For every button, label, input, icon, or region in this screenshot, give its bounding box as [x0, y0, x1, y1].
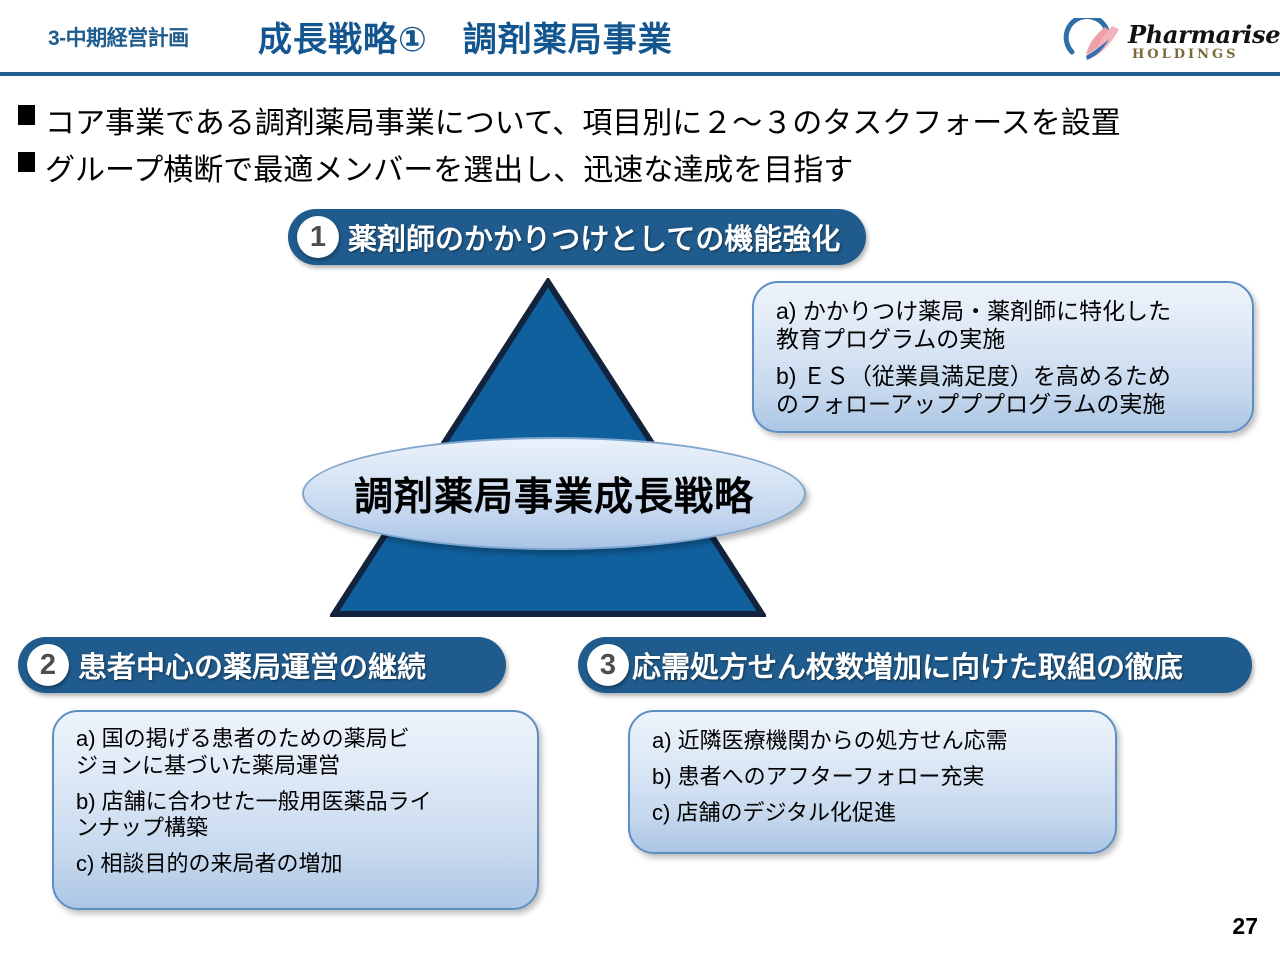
callout-line: b) ＥＳ（従業員満足度）を高めるため	[776, 362, 1236, 390]
square-bullet-icon	[18, 152, 35, 172]
bullet-item-2: グループ横断で最適メンバーを選出し、迅速な達成を目指す	[18, 145, 853, 189]
strategy-number-badge-2: 2	[27, 644, 69, 686]
callout-spacer	[76, 780, 521, 789]
square-bullet-icon	[18, 105, 35, 125]
strategy-banner-label-3: 応需処方せん枚数増加に向けた取組の徹底	[632, 644, 1183, 686]
strategy-banner-label-2: 患者中心の薬局運営の継続	[78, 644, 426, 686]
callout-spacer	[76, 842, 521, 851]
page-title: 成長戦略① 調剤薬局事業	[258, 12, 673, 61]
callout-line: b) 患者へのアフターフォロー充実	[652, 764, 1099, 791]
bullet-text: コア事業である調剤薬局事業について、項目別に２～３のタスクフォースを設置	[45, 98, 1121, 142]
callout-line: c) 店舗のデジタル化促進	[652, 800, 1099, 827]
header-divider	[0, 72, 1280, 76]
strategy-number-badge-3: 3	[587, 644, 629, 686]
callout-line: のフォローアップププログラムの実施	[776, 390, 1236, 418]
callout-line: c) 相談目的の来局者の増加	[76, 851, 521, 878]
logo-subtext: HOLDINGS	[1132, 47, 1238, 62]
center-strategy-ellipse: 調剤薬局事業成長戦略	[302, 437, 806, 550]
bullet-item-1: コア事業である調剤薬局事業について、項目別に２～３のタスクフォースを設置	[18, 98, 1121, 142]
bullet-text: グループ横断で最適メンバーを選出し、迅速な達成を目指す	[45, 145, 853, 189]
callout-spacer	[776, 353, 1236, 362]
strategy-callout-3: a) 近隣医療機関からの処方せん応需 b) 患者へのアフターフォロー充実 c) …	[628, 710, 1117, 854]
company-logo: Pharmarise HOLDINGS	[1062, 18, 1262, 68]
strategy-number-badge-1: 1	[297, 216, 339, 258]
callout-line: a) かかりつけ薬局・薬剤師に特化した	[776, 297, 1236, 325]
strategy-callout-1: a) かかりつけ薬局・薬剤師に特化した 教育プログラムの実施 b) ＥＳ（従業員…	[752, 281, 1254, 433]
center-strategy-label: 調剤薬局事業成長戦略	[354, 466, 754, 522]
callout-line: a) 近隣医療機関からの処方せん応需	[652, 728, 1099, 755]
logo-wordmark: Pharmarise	[1128, 20, 1280, 49]
strategy-banner-1[interactable]: 1 薬剤師のかかりつけとしての機能強化	[288, 209, 866, 265]
strategy-banner-2[interactable]: 2 患者中心の薬局運営の継続	[18, 637, 506, 693]
callout-line: ンナップ構築	[76, 815, 521, 842]
strategy-banner-label-1: 薬剤師のかかりつけとしての機能強化	[348, 216, 840, 258]
header-section-label: 3-中期経営計画	[48, 22, 189, 52]
strategy-callout-2: a) 国の掲げる患者のための薬局ビ ジョンに基づいた薬局運営 b) 店舗に合わせ…	[52, 710, 539, 910]
page-number: 27	[1232, 913, 1258, 940]
callout-line: b) 店舗に合わせた一般用医薬品ライ	[76, 789, 521, 816]
slide-root: 3-中期経営計画 成長戦略① 調剤薬局事業 Pharmarise HOLDING…	[0, 0, 1280, 960]
callout-line: ジョンに基づいた薬局運営	[76, 753, 521, 780]
callout-line: 教育プログラムの実施	[776, 325, 1236, 353]
strategy-banner-3[interactable]: 3 応需処方せん枚数増加に向けた取組の徹底	[578, 637, 1252, 693]
callout-line: a) 国の掲げる患者のための薬局ビ	[76, 726, 521, 753]
